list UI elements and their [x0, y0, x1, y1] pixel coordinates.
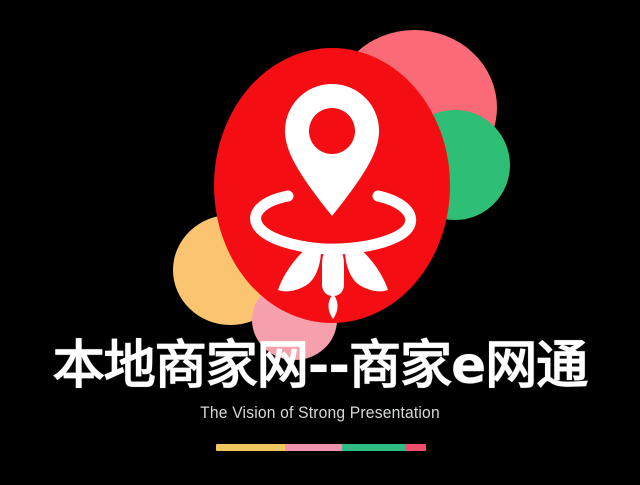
logo-disc — [214, 48, 450, 323]
segment-green — [342, 444, 405, 451]
title-block: 本地商家网--商家e网通 The Vision of Strong Presen… — [0, 336, 640, 424]
segment-red — [405, 444, 426, 451]
presentation-title-slide: 本地商家网--商家e网通 The Vision of Strong Presen… — [0, 0, 640, 485]
page-subtitle: The Vision of Strong Presentation — [26, 402, 615, 424]
segment-pink — [285, 444, 342, 451]
page-title: 本地商家网--商家e网通 — [0, 336, 640, 396]
rocket-icon — [278, 244, 388, 319]
map-pin-icon — [285, 84, 379, 216]
segment-yellow — [216, 444, 285, 451]
accent-bar — [216, 444, 426, 451]
